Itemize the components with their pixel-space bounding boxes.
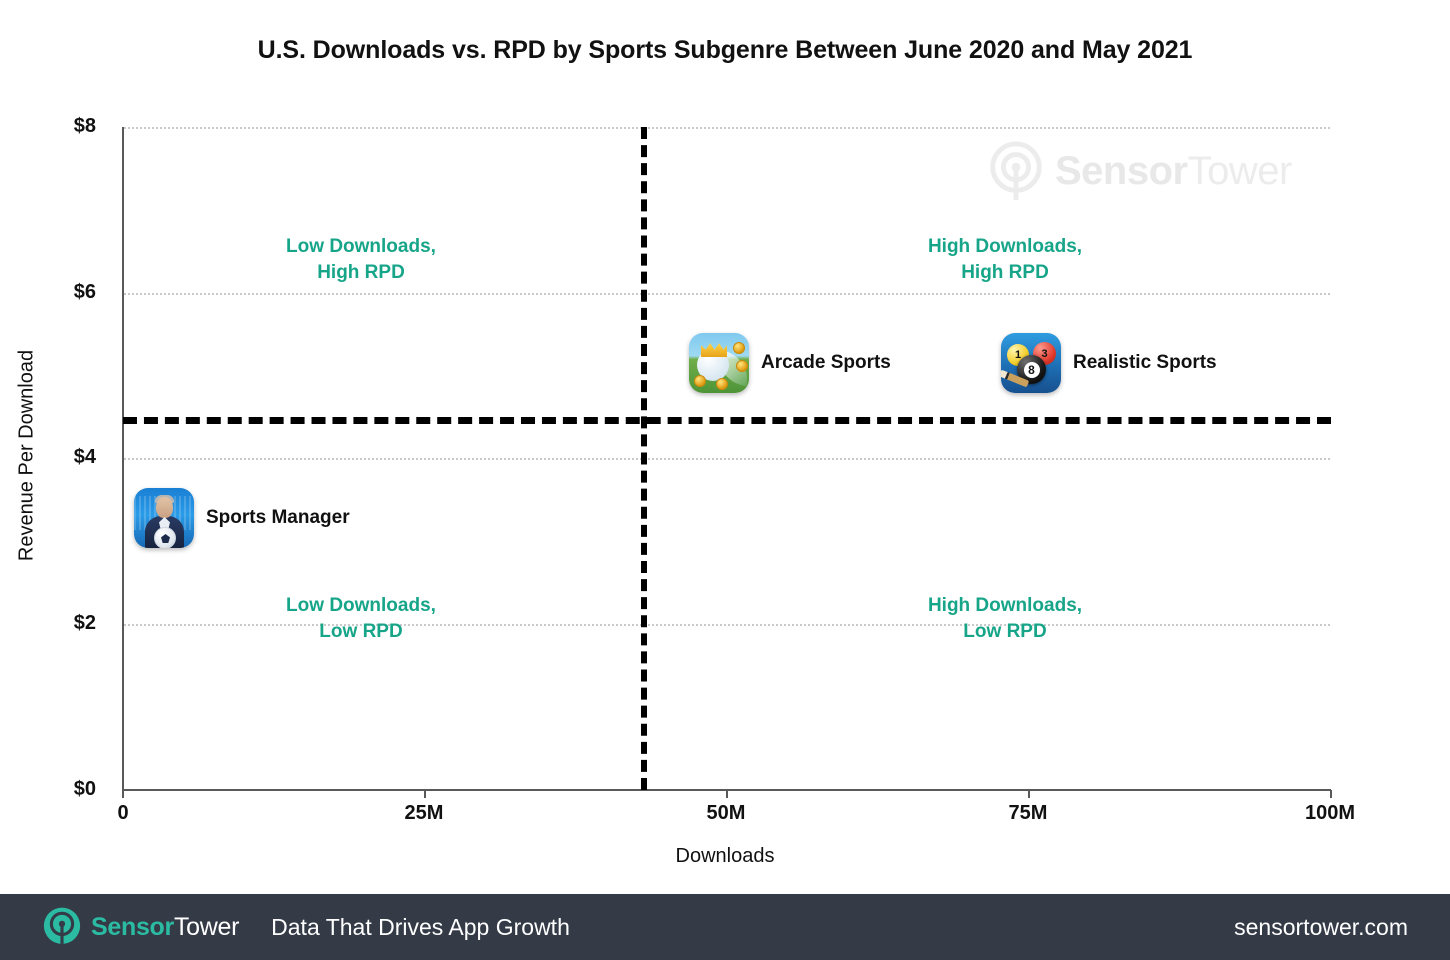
data-point-sports-manager[interactable]: Sports Manager	[134, 488, 350, 548]
manager-head-shape	[156, 497, 173, 518]
gridline-y6	[124, 293, 1330, 296]
x-tick-mark-100m	[1330, 790, 1332, 798]
quadrant-label-high-downloads-low-rpd: High Downloads, Low RPD	[855, 593, 1155, 644]
watermark: SensorTower	[985, 140, 1292, 202]
eight-ball-pool-icon: 1 3 8	[1001, 333, 1061, 393]
footer-brand-light: Tower	[174, 913, 239, 941]
watermark-brand-bold: Sensor	[1055, 149, 1188, 193]
quadrant-divider-horizontal	[123, 417, 1331, 424]
footer-brand: SensorTower	[91, 913, 239, 942]
x-axis-title: Downloads	[0, 845, 1450, 868]
coin-icon	[736, 360, 748, 372]
quadrant-label-line1: High Downloads,	[855, 593, 1155, 619]
data-point-label: Arcade Sports	[761, 352, 891, 374]
quadrant-label-line1: High Downloads,	[855, 234, 1155, 260]
golf-clash-icon	[689, 333, 749, 393]
footer-tagline: Data That Drives App Growth	[271, 914, 570, 941]
quadrant-divider-vertical	[641, 127, 647, 790]
quadrant-label-line1: Low Downloads,	[211, 593, 511, 619]
sensortower-ring-icon	[985, 140, 1047, 202]
quadrant-label-line1: Low Downloads,	[211, 234, 511, 260]
x-tick-mark-0	[122, 790, 124, 798]
x-tick-50m: 50M	[666, 802, 786, 825]
coin-icon	[694, 375, 706, 387]
data-point-label: Sports Manager	[206, 507, 350, 529]
footer-bar: SensorTower Data That Drives App Growth …	[0, 894, 1450, 960]
chart-page: U.S. Downloads vs. RPD by Sports Subgenr…	[0, 0, 1450, 960]
quadrant-label-low-downloads-low-rpd: Low Downloads, Low RPD	[211, 593, 511, 644]
quadrant-label-low-downloads-high-rpd: Low Downloads, High RPD	[211, 234, 511, 285]
x-tick-mark-25m	[424, 790, 426, 798]
quadrant-label-line2: Low RPD	[855, 619, 1155, 645]
coin-icon	[716, 378, 728, 390]
crown-shape	[701, 342, 727, 357]
y-tick-6: $6	[0, 281, 96, 304]
x-tick-100m: 100M	[1270, 802, 1390, 825]
page-title: U.S. Downloads vs. RPD by Sports Subgenr…	[0, 36, 1450, 65]
top-eleven-icon	[134, 488, 194, 548]
data-point-label: Realistic Sports	[1073, 352, 1217, 374]
quadrant-label-high-downloads-high-rpd: High Downloads, High RPD	[855, 234, 1155, 285]
y-tick-8: $8	[0, 115, 96, 138]
watermark-brand-light: Tower	[1188, 149, 1292, 193]
coin-icon	[733, 342, 745, 354]
gridline-y8	[124, 127, 1330, 130]
data-point-arcade-sports[interactable]: Arcade Sports	[689, 333, 891, 393]
footer-brand-bold: Sensor	[91, 913, 174, 941]
y-tick-4: $4	[0, 446, 96, 469]
x-tick-mark-75m	[1028, 790, 1030, 798]
y-axis-line	[122, 127, 124, 792]
data-point-realistic-sports[interactable]: 1 3 8 Realistic Sports	[1001, 333, 1217, 393]
x-tick-75m: 75M	[968, 802, 1088, 825]
y-tick-0: $0	[0, 778, 96, 801]
sensortower-ring-icon	[42, 907, 82, 947]
y-tick-2: $2	[0, 612, 96, 635]
watermark-brand: SensorTower	[1055, 149, 1292, 194]
gridline-y4	[124, 458, 1330, 461]
quadrant-label-line2: High RPD	[211, 260, 511, 286]
quadrant-label-line2: Low RPD	[211, 619, 511, 645]
y-axis-title: Revenue Per Download	[16, 226, 39, 686]
footer-url[interactable]: sensortower.com	[1234, 914, 1408, 941]
x-tick-0: 0	[63, 802, 183, 825]
x-tick-mark-50m	[726, 790, 728, 798]
soccer-ball-shape	[154, 527, 176, 548]
x-tick-25m: 25M	[364, 802, 484, 825]
quadrant-label-line2: High RPD	[855, 260, 1155, 286]
